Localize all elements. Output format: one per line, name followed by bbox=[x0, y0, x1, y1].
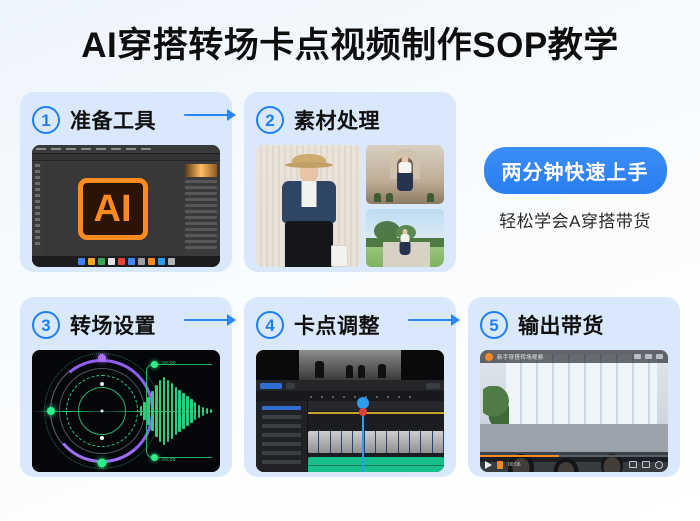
audio-waveform bbox=[140, 376, 212, 446]
timeline-playhead[interactable] bbox=[362, 401, 364, 472]
radar-node-bottom bbox=[97, 459, 106, 468]
tool-chip[interactable] bbox=[286, 383, 295, 389]
radar-node-top bbox=[98, 354, 106, 362]
settings-icon[interactable] bbox=[629, 461, 637, 468]
step-4-number: 4 bbox=[256, 311, 284, 339]
track-headers[interactable] bbox=[256, 401, 308, 472]
step-2-thumbnail bbox=[256, 145, 444, 267]
step-1-thumbnail: AI bbox=[32, 145, 220, 267]
office-window bbox=[506, 354, 656, 426]
video-editor-timeline bbox=[256, 350, 444, 472]
waveform-node-bottom bbox=[151, 454, 158, 461]
pause-icon[interactable] bbox=[497, 461, 503, 469]
more-icon[interactable] bbox=[645, 354, 652, 359]
illustrator-screenshot: AI bbox=[32, 145, 220, 267]
play-icon[interactable] bbox=[485, 461, 492, 469]
step-5-label: 输出带货 bbox=[518, 310, 604, 340]
app-workspace: AI bbox=[32, 161, 220, 256]
beat-marker bbox=[359, 408, 367, 416]
outfit-photo-group bbox=[256, 145, 444, 267]
step-2-header: 2 素材处理 bbox=[256, 102, 444, 138]
outfit-photo-main bbox=[256, 145, 361, 267]
step-3-thumbnail: 00:00 00:00 bbox=[32, 350, 220, 472]
waveform-label-top: 00:00 bbox=[162, 360, 176, 365]
page-title: AI穿搭转场卡点视频制作SOP教学 bbox=[0, 0, 700, 63]
step-3-label: 转场设置 bbox=[70, 310, 156, 340]
timeline-header[interactable] bbox=[308, 401, 444, 412]
artboard-canvas: AI bbox=[43, 161, 182, 256]
player-controls-bar[interactable]: 00:06 bbox=[480, 457, 668, 472]
editor-toolbar[interactable] bbox=[256, 380, 444, 392]
step-4-label: 卡点调整 bbox=[294, 310, 380, 340]
step-5-thumbnail: 新手穿搭转场视频 00:06 bbox=[480, 350, 668, 472]
waveform-label-bottom: 00:00 bbox=[162, 457, 176, 462]
export-chip[interactable] bbox=[426, 383, 440, 389]
pip-icon[interactable] bbox=[642, 461, 650, 468]
fullscreen-icon[interactable] bbox=[655, 461, 663, 469]
arrow-step4-to-step5 bbox=[408, 314, 460, 326]
timecode-ruler[interactable] bbox=[256, 392, 444, 401]
step-5-header: 5 输出带货 bbox=[480, 307, 668, 343]
taskbar-dock bbox=[32, 256, 220, 267]
app-menubar bbox=[32, 145, 220, 154]
arrow-step1-to-step2 bbox=[184, 109, 236, 121]
active-tool-chip[interactable] bbox=[260, 383, 282, 389]
player-controls[interactable]: 00:06 bbox=[480, 457, 668, 472]
step-1-label: 准备工具 bbox=[70, 105, 156, 135]
tool-palette bbox=[32, 161, 43, 256]
radar-node-left bbox=[47, 407, 55, 415]
step-card-2[interactable]: 2 素材处理 bbox=[244, 92, 456, 272]
promo-block: 两分钟快速上手 轻松学会A穿搭带货 bbox=[470, 147, 680, 232]
video-scene bbox=[480, 350, 668, 472]
video-clip-track[interactable] bbox=[308, 431, 444, 453]
step-3-number: 3 bbox=[32, 311, 60, 339]
preview-frame bbox=[299, 350, 401, 380]
outfit-photo-lawn bbox=[366, 209, 444, 268]
properties-panel bbox=[182, 161, 220, 256]
player-time: 00:06 bbox=[508, 462, 521, 468]
step-2-number: 2 bbox=[256, 106, 284, 134]
outfit-photo-side-group bbox=[366, 145, 444, 267]
step-1-number: 1 bbox=[32, 106, 60, 134]
share-icon[interactable] bbox=[634, 354, 641, 359]
radar-center-dot bbox=[100, 410, 103, 413]
player-right-controls[interactable] bbox=[629, 461, 663, 469]
illustrator-logo-icon: AI bbox=[78, 178, 148, 240]
step-5-number: 5 bbox=[480, 311, 508, 339]
step-4-thumbnail bbox=[256, 350, 444, 472]
radar-marker-lower bbox=[100, 436, 104, 440]
promo-subtitle: 轻松学会A穿搭带货 bbox=[470, 207, 680, 232]
waveform-node-top bbox=[151, 361, 158, 368]
transition-radar-graphic: 00:00 00:00 bbox=[32, 350, 220, 472]
player-topbar: 新手穿搭转场视频 bbox=[480, 350, 668, 363]
audio-clip-track[interactable] bbox=[308, 457, 444, 472]
player-top-icons[interactable] bbox=[634, 354, 663, 359]
marker-bar bbox=[308, 412, 444, 414]
step-2-label: 素材处理 bbox=[294, 105, 380, 135]
gradient-swatch bbox=[185, 164, 217, 177]
player-logo-icon bbox=[485, 353, 493, 361]
app-control-bar bbox=[32, 154, 220, 161]
steps-board: 1 准备工具 AI bbox=[20, 92, 680, 502]
preview-monitor bbox=[256, 350, 444, 380]
menu-icon[interactable] bbox=[656, 354, 663, 359]
timeline-tracks[interactable] bbox=[256, 401, 444, 472]
video-player[interactable]: 新手穿搭转场视频 00:06 bbox=[480, 350, 668, 472]
outfit-photo-building bbox=[366, 145, 444, 204]
promo-badge: 两分钟快速上手 bbox=[484, 147, 667, 194]
arrow-step3-to-step4 bbox=[184, 314, 236, 326]
radar-marker-upper bbox=[100, 382, 104, 386]
step-card-5[interactable]: 5 输出带货 bbox=[468, 297, 680, 477]
player-video-title: 新手穿搭转场视频 bbox=[497, 353, 543, 361]
